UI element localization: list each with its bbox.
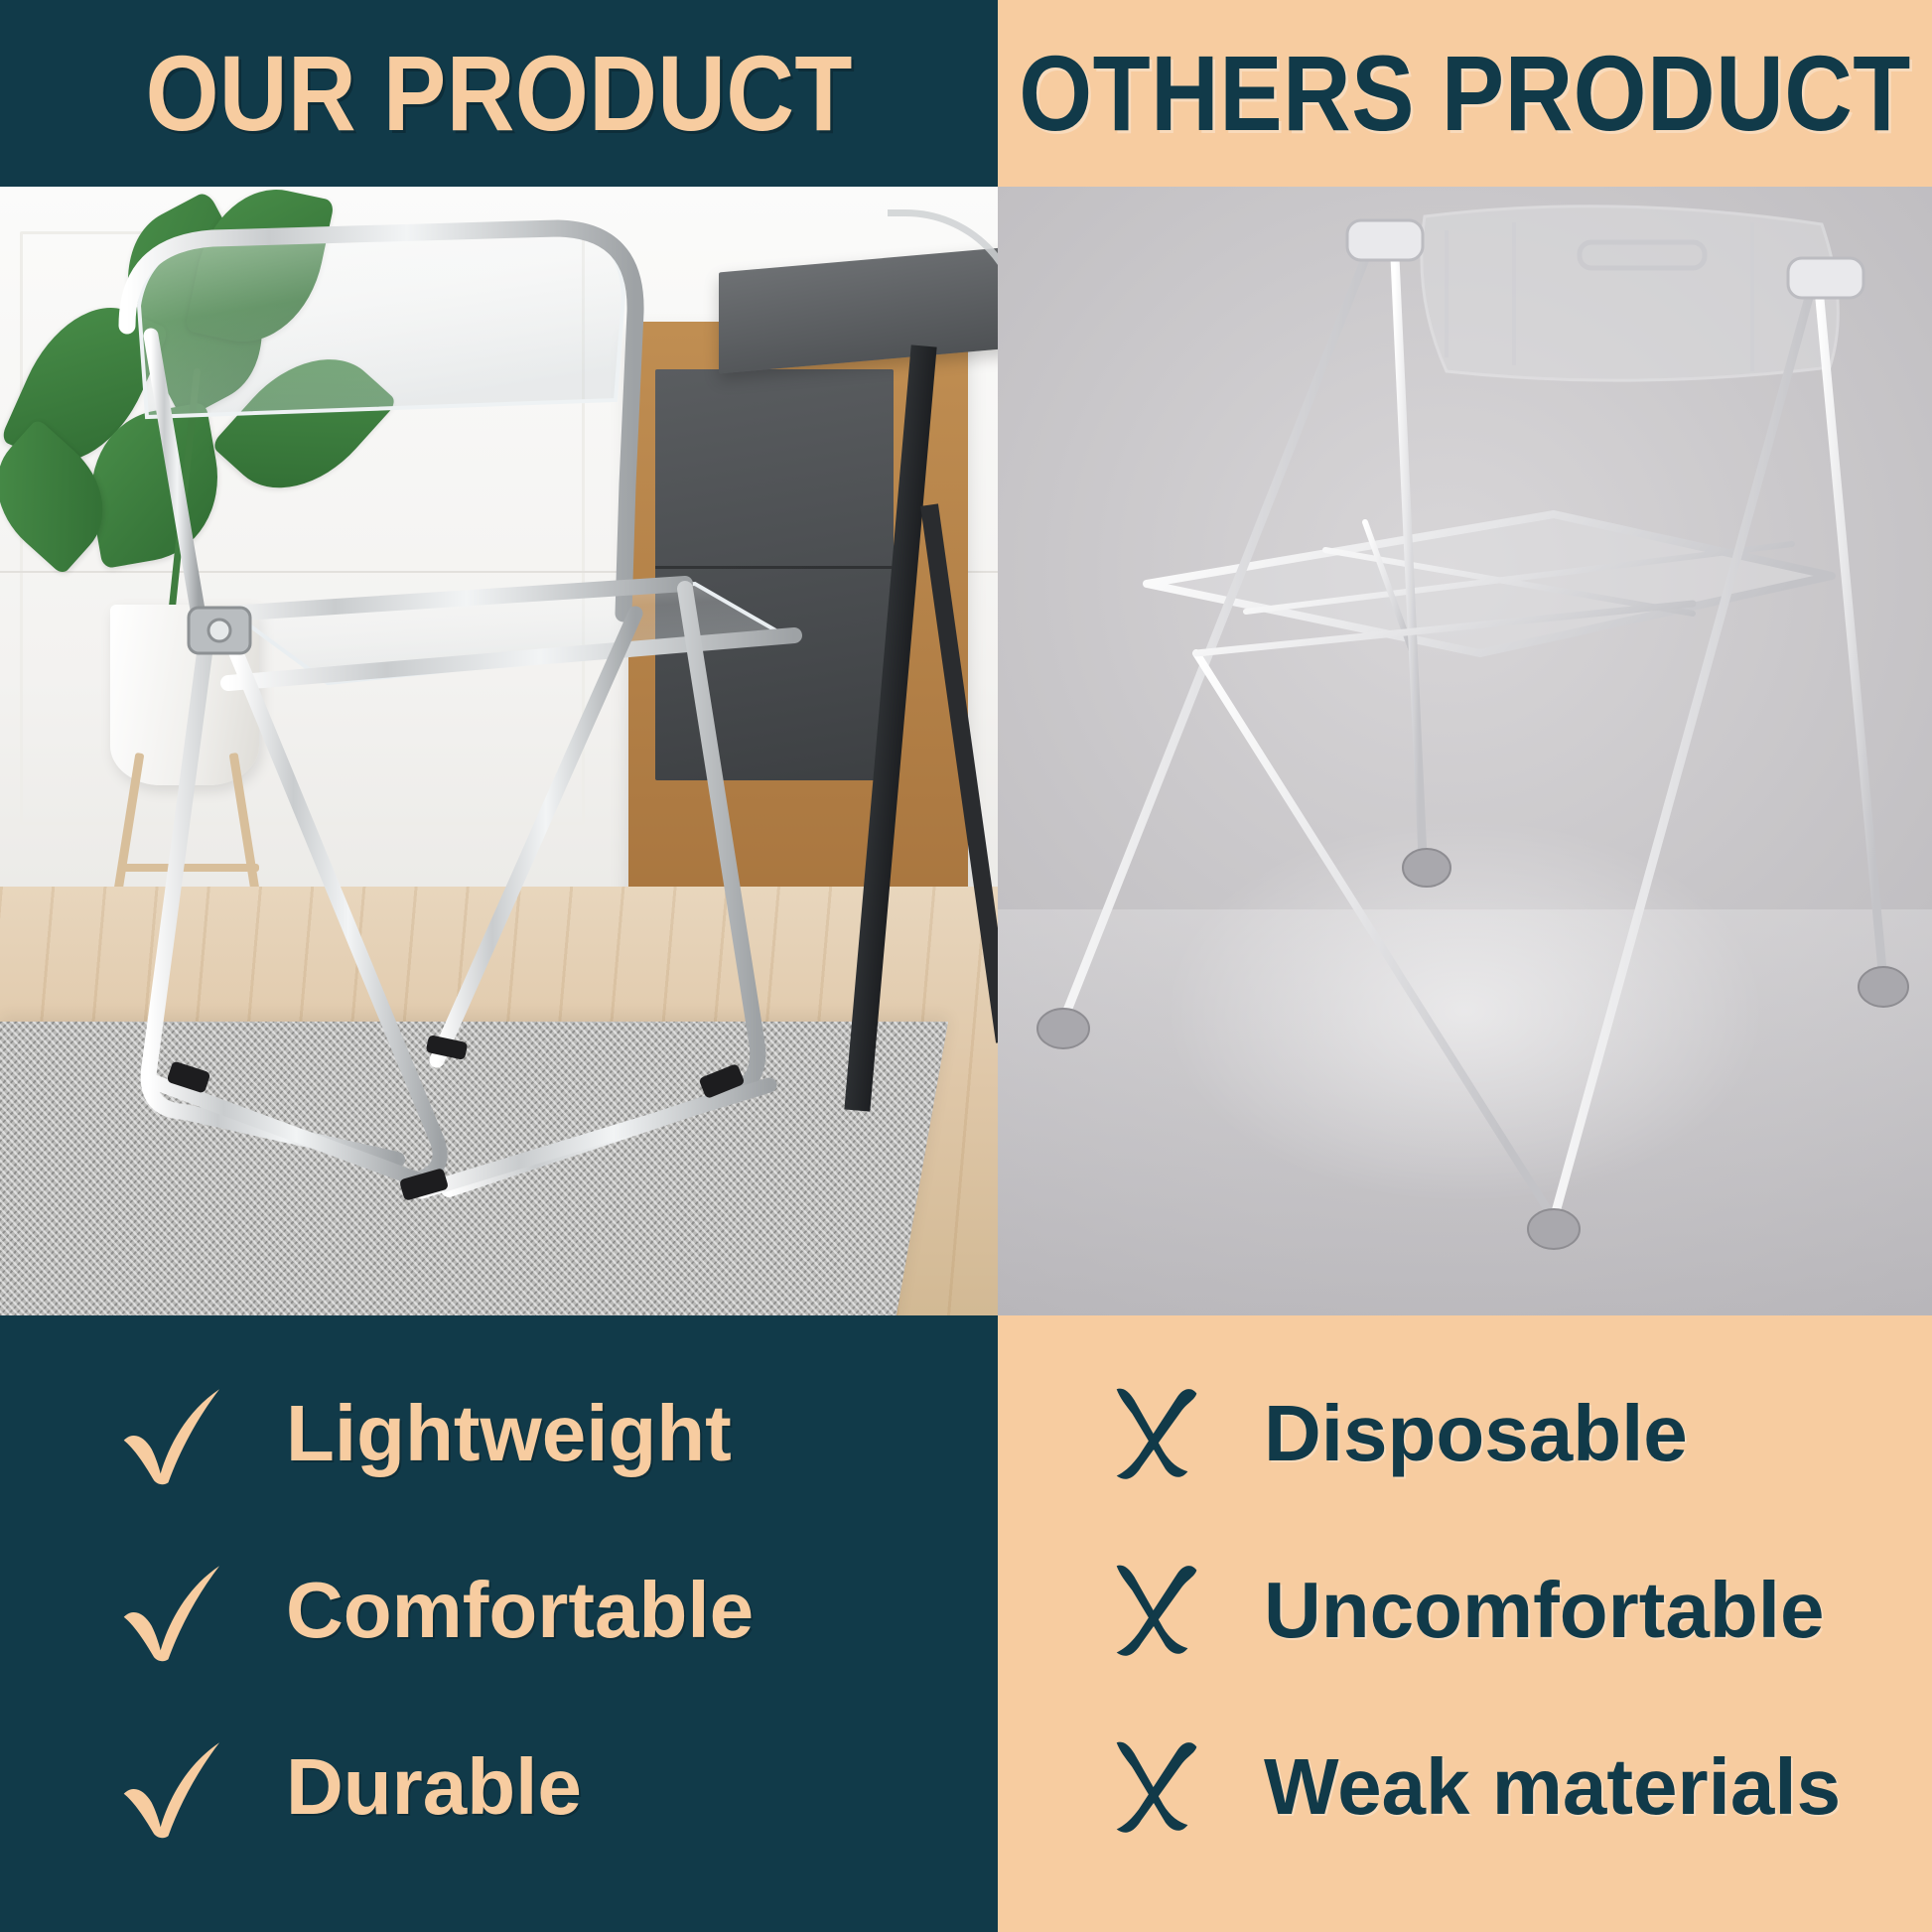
flimsy-folding-chair [998,187,1932,1315]
chair-hinge [189,608,250,653]
feature-row: Lightweight [0,1345,998,1522]
our-product-header: OUR PRODUCT [0,0,998,187]
product-comparison-infographic: OUR PRODUCT [0,0,1932,1932]
others-product-panel: OTHERS PRODUCT [998,0,1932,1932]
leg-front-left [1063,244,1371,1021]
check-icon [117,1378,228,1489]
chair-back-pane [139,226,623,417]
feature-row: Durable [0,1699,998,1875]
chair-back-shell [1422,207,1838,380]
feature-label: Durable [286,1747,582,1827]
chair-rear-runner [149,1080,417,1179]
cross-icon [1101,1731,1212,1843]
check-icon [117,1555,228,1666]
feature-label: Uncomfortable [1264,1571,1825,1650]
feature-row: Weak materials [998,1699,1932,1875]
others-product-photo [998,187,1932,1315]
others-product-header: OTHERS PRODUCT [998,0,1932,187]
leg-front-right [1818,278,1883,981]
cross-icon [1101,1378,1212,1489]
others-product-feature-list: Disposable Uncomfortable Weak materials [998,1315,1932,1932]
acrylic-folding-chair [0,187,998,1315]
cross-icon [1101,1555,1212,1666]
chair-rear-left-leg [236,653,440,1179]
feature-label: Lightweight [286,1394,732,1473]
feature-label: Disposable [1264,1394,1688,1473]
our-product-photo [0,187,998,1315]
chair-front-runner [422,1085,769,1191]
chair-plastic-feet [1037,849,1908,1249]
our-product-feature-list: Lightweight Comfortable Durable [0,1315,998,1932]
our-product-title: OUR PRODUCT [145,40,852,147]
feature-row: Disposable [998,1345,1932,1522]
feature-label: Weak materials [1264,1747,1841,1827]
feature-label: Comfortable [286,1571,754,1650]
check-icon [117,1731,228,1843]
feature-row: Uncomfortable [998,1522,1932,1699]
others-product-title: OTHERS PRODUCT [1019,40,1911,147]
leg-rear-cross [1196,653,1554,1219]
chair-cross-brace [437,614,635,1060]
feature-row: Comfortable [0,1522,998,1699]
leg-rear-right [1554,294,1810,1219]
our-product-panel: OUR PRODUCT [0,0,998,1932]
